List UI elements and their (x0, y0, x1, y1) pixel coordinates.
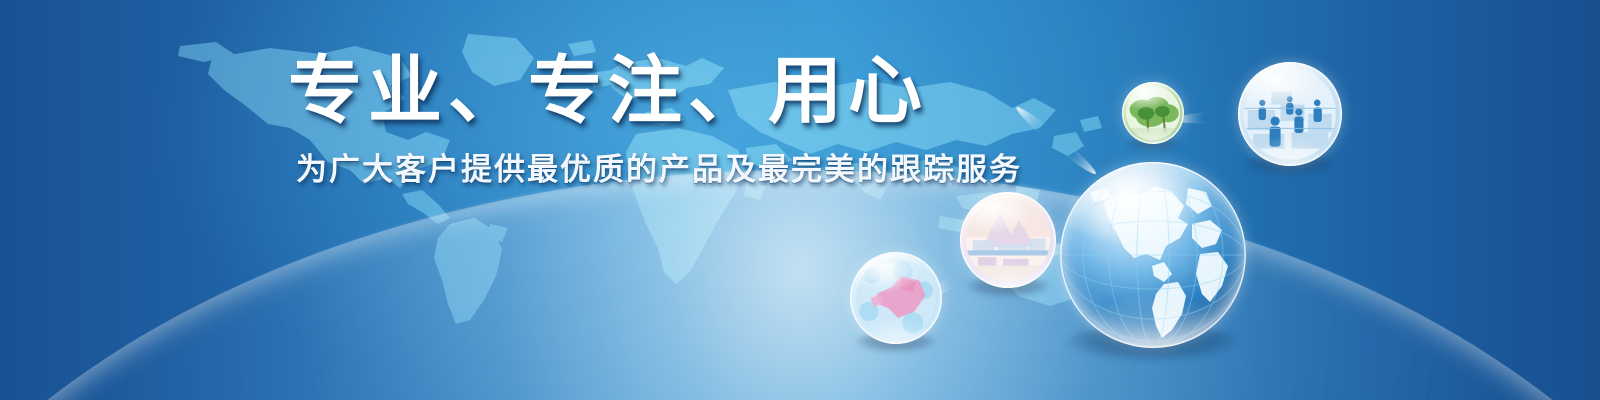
industry-orb (960, 192, 1056, 288)
industry-orb-rim (960, 192, 1056, 288)
globe-icon (1060, 162, 1246, 348)
nature-orb (1122, 82, 1184, 144)
map-orb-rim (850, 252, 942, 344)
promo-banner: 专业、专注、用心 为广大客户提供最优质的产品及最完美的跟踪服务 (0, 0, 1600, 400)
people-orb (1238, 62, 1342, 166)
globe-network-graphic (820, 40, 1380, 370)
people-orb-rim (1238, 62, 1342, 166)
globe-rim (1060, 162, 1246, 348)
nature-orb-rim (1122, 82, 1184, 144)
map-orb (850, 252, 942, 344)
